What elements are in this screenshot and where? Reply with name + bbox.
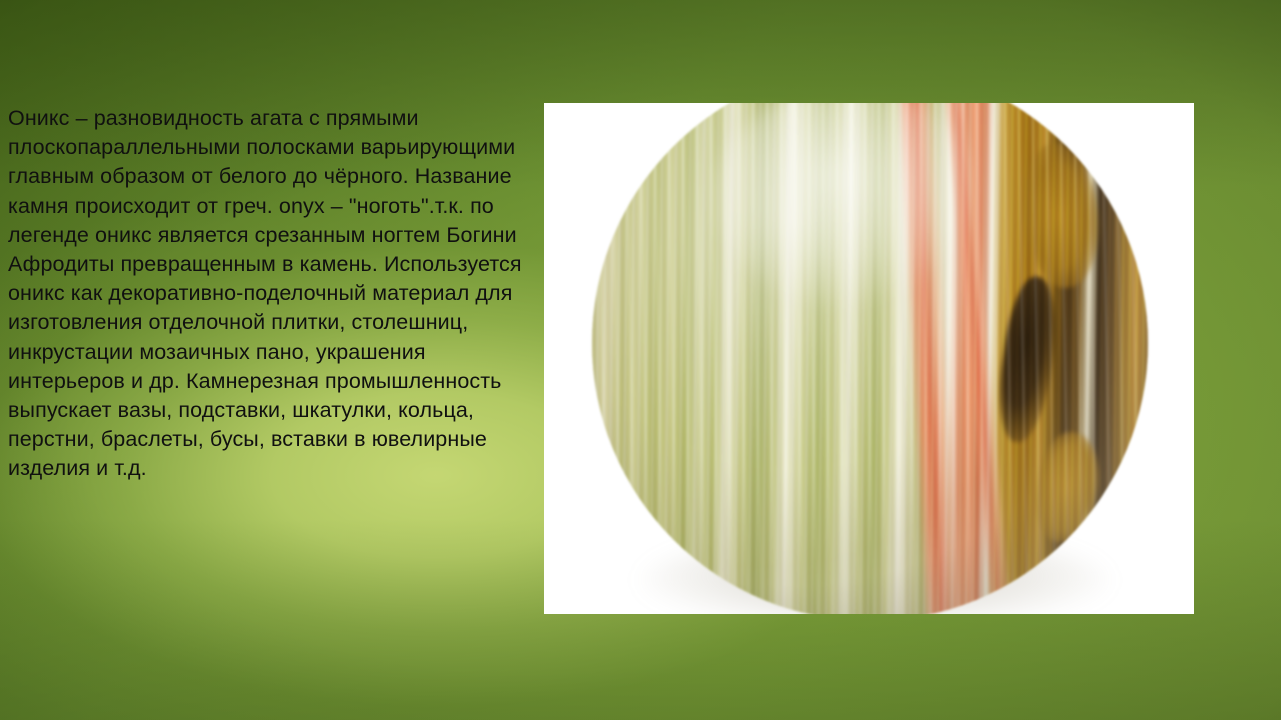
onyx-sphere-body — [592, 103, 1148, 614]
sphere-rim-fade — [592, 103, 1148, 614]
onyx-sphere-picture — [544, 103, 1194, 614]
slide-body-text: Оникс – разновидность агата с прямыми пл… — [8, 104, 523, 484]
presentation-slide: Оникс – разновидность агата с прямыми пл… — [0, 0, 1281, 720]
picture-canvas — [544, 103, 1194, 614]
